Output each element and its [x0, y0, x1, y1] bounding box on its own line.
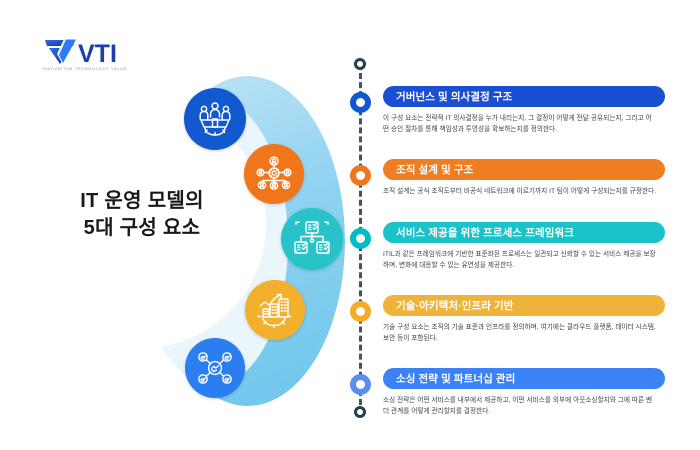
timeline-rail: [353, 58, 369, 418]
infographic-slide: VTI INNOVATION TECHNOLOGY VALUE IT 운영 모델…: [0, 0, 700, 450]
timeline-cap-top: [354, 58, 366, 70]
section-body-3: ITIL과 같은 프레임워크에 기반한 표준화된 프로세스는 일관되고 신뢰할 …: [383, 250, 657, 271]
icon-circle-org-chart: [244, 144, 304, 204]
timeline-dot-4: [350, 301, 371, 322]
timeline-dot-3: [350, 228, 371, 249]
process-flowchart-icon: [291, 218, 333, 260]
timeline-dot-1: [350, 92, 371, 113]
page-title: IT 운영 모델의 5대 구성 요소: [26, 188, 258, 242]
section-heading-pill-3[interactable]: 서비스 제공을 위한 프로세스 프레임워크: [383, 222, 665, 243]
timeline-dot-2: [350, 165, 371, 186]
icon-circle-partnership: [185, 338, 245, 398]
section-body-4: 기술 구성 요소는 조직의 기술 표준과 인프라를 정의하며, 여기에는 클라우…: [383, 323, 657, 344]
section-body-5: 소싱 전략은 어떤 서비스를 내부에서 제공하고, 어떤 서비스를 외부에 아웃…: [383, 396, 657, 417]
section-heading-pill-2[interactable]: 조직 설계 및 구조: [383, 159, 665, 180]
section-heading-pill-1[interactable]: 거버넌스 및 의사결정 구조: [383, 86, 665, 107]
icon-circle-infrastructure: [245, 280, 305, 340]
section-heading-pill-5[interactable]: 소싱 전략 및 파트너십 관리: [383, 368, 665, 389]
partnership-handshake-network-icon: [195, 348, 235, 388]
page-title-line1: IT 운영 모델의: [26, 188, 258, 215]
section-block-5: 소싱 전략 및 파트너십 관리 소싱 전략은 어떤 서비스를 내부에서 제공하고…: [383, 368, 665, 417]
section-block-3: 서비스 제공을 위한 프로세스 프레임워크 ITIL과 같은 프레임워크에 기반…: [383, 222, 665, 271]
hero-illustration: IT 운영 모델의 5대 구성 요소: [0, 58, 360, 438]
section-heading-text-4: 기술·아키텍처·인프라 기반: [396, 298, 514, 313]
governance-people-gear-icon: [195, 99, 235, 139]
timeline-dot-5: [350, 374, 371, 395]
section-heading-text-1: 거버넌스 및 의사결정 구조: [396, 89, 512, 104]
section-body-1: 이 구성 요소는 전략적 IT 의사결정을 누가 내리는지, 그 결정이 어떻게…: [383, 114, 657, 135]
section-block-1: 거버넌스 및 의사결정 구조 이 구성 요소는 전략적 IT 의사결정을 누가 …: [383, 86, 665, 135]
section-body-2: 조직 설계는 공식 조직도부터 비공식 네트워크에 이르기까지 IT 팀이 어떻…: [383, 187, 657, 198]
section-heading-text-2: 조직 설계 및 구조: [396, 162, 473, 177]
icon-circle-process: [281, 208, 343, 270]
section-heading-text-5: 소싱 전략 및 파트너십 관리: [396, 371, 515, 386]
infrastructure-building-gear-icon: [255, 290, 295, 330]
section-block-4: 기술·아키텍처·인프라 기반 기술 구성 요소는 조직의 기술 표준과 인프라를…: [383, 295, 665, 344]
org-chart-network-icon: [254, 154, 294, 194]
icon-circle-governance: [184, 88, 246, 150]
section-heading-text-3: 서비스 제공을 위한 프로세스 프레임워크: [396, 225, 574, 240]
section-heading-pill-4[interactable]: 기술·아키텍처·인프라 기반: [383, 295, 665, 316]
page-title-line2: 5대 구성 요소: [26, 215, 258, 242]
section-block-2: 조직 설계 및 구조 조직 설계는 공식 조직도부터 비공식 네트워크에 이르기…: [383, 159, 665, 198]
timeline-cap-bottom: [354, 406, 366, 418]
